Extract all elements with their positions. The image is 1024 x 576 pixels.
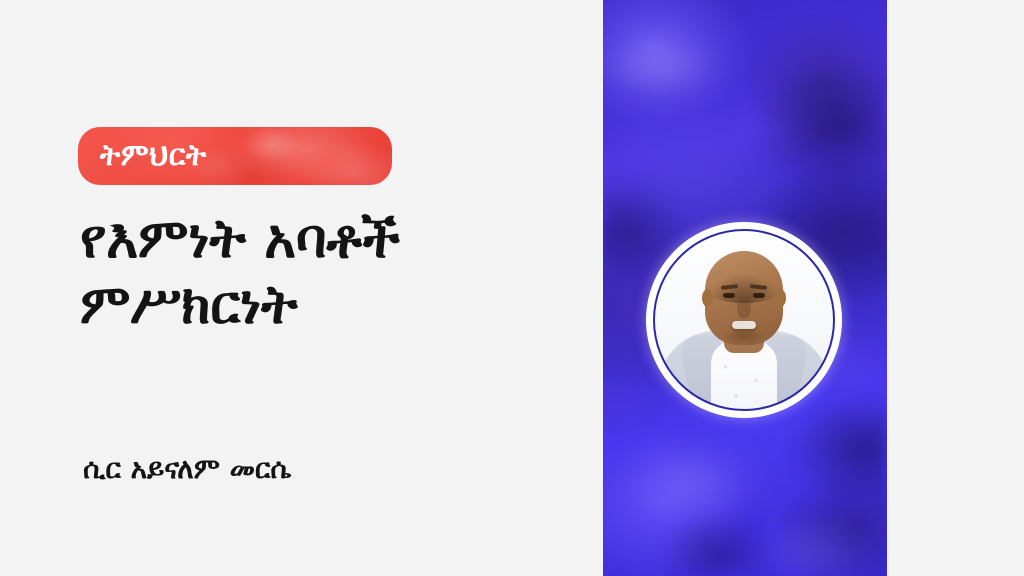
category-badge: ትምህርት [78,127,392,185]
slide-headline: የእምነት አባቶች ምሥክርነት [80,206,580,338]
media-panel [603,0,887,576]
portrait-ear-left [702,289,713,307]
headline-line-1: የእምነት አባቶች [80,206,580,272]
portrait-eye-right [753,293,765,298]
portrait-ear-right [775,289,786,307]
slide-content-column: ትምህርት የእምነት አባቶች ምሥክርነት ሲር አይናለም መርሴ [0,0,603,576]
portrait-chin-shadow [722,327,766,345]
portrait-frame [646,222,842,418]
portrait-photo [653,229,835,411]
portrait-hair [702,269,786,303]
portrait-nose [737,299,751,319]
portrait-eye-left [723,293,735,298]
speaker-byline: ሲር አይናለም መርሴ [83,452,291,486]
headline-line-2: ምሥክርነት [80,272,580,338]
category-badge-label: ትምህርት [100,141,207,171]
presentation-slide: ትምህርት የእምነት አባቶች ምሥክርነት ሲር አይናለም መርሴ [0,0,1024,576]
